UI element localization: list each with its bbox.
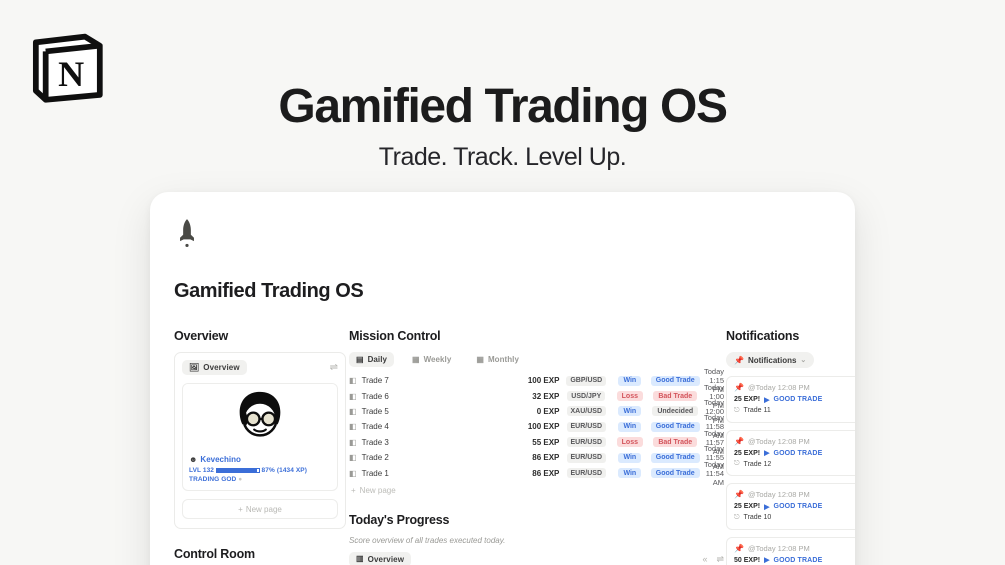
overview-view-pill[interactable]: 🖼 Overview xyxy=(182,360,247,375)
page-root: N Gamified Trading OS Trade. Track. Leve… xyxy=(0,0,1005,565)
avatar xyxy=(183,384,337,450)
tab-daily[interactable]: ▤ Daily xyxy=(349,352,394,367)
trade-exp: 100 EXP xyxy=(502,422,559,431)
page-icon: ◧ xyxy=(349,438,357,447)
chart-icon: ▥ xyxy=(356,555,364,563)
trade-tag: Good Trade xyxy=(651,422,700,432)
notification-status: GOOD TRADE xyxy=(773,503,822,510)
page-icon: ◧ xyxy=(349,422,357,431)
trade-exp: 32 EXP xyxy=(502,392,559,401)
level-row: LVL 132 87% (1434 XP) xyxy=(189,467,331,474)
link-icon: ⎋ xyxy=(734,407,740,415)
pin-icon: 📌 xyxy=(734,383,744,392)
trade-pair: EUR/USD xyxy=(567,468,607,478)
profile-name: Kevechino xyxy=(200,455,240,464)
plus-icon: + xyxy=(351,486,356,495)
profile-card[interactable]: ☻ Kevechino LVL 132 87% (1434 XP) xyxy=(182,383,338,491)
mission-control-column: Mission Control ▤ Daily ▦ Weekly ▦ Mont xyxy=(349,329,724,565)
overview-column: Overview 🖼 Overview ⇌ xyxy=(174,329,346,565)
sliders-icon[interactable]: ⇌ xyxy=(330,363,338,373)
link-icon: ⎋ xyxy=(734,460,740,468)
trade-tag: Good Trade xyxy=(651,376,700,386)
trade-exp: 0 EXP xyxy=(502,407,559,416)
hero: Gamified Trading OS Trade. Track. Level … xyxy=(0,80,1005,172)
mission-control-heading: Mission Control xyxy=(349,329,724,343)
chevron-down-icon: ⌄ xyxy=(800,356,806,364)
gallery-icon: 🖼 xyxy=(189,364,199,372)
overview-view-label: Overview xyxy=(203,363,239,372)
notification-exp: 25 EXP! xyxy=(734,396,760,403)
rank-label: TRADING GOD xyxy=(189,476,236,483)
page-icon: ◧ xyxy=(349,469,357,478)
trade-exp: 86 EXP xyxy=(502,469,559,478)
trade-exp: 55 EXP xyxy=(502,438,559,447)
page-title: Gamified Trading OS xyxy=(0,80,1005,134)
list-item[interactable]: 📌@Today 12:08 PM 25 EXP!▶GOOD TRADE ⎋Tra… xyxy=(726,483,855,530)
trade-pair: GBP/USD xyxy=(566,376,606,386)
notion-window: Gamified Trading OS Overview 🖼 Overview … xyxy=(150,192,855,565)
notion-page-title: Gamified Trading OS xyxy=(174,280,831,303)
list-item[interactable]: 📌@Today 12:08 PM 50 EXP!▶GOOD TRADE ⎋Tra… xyxy=(726,537,855,565)
todays-progress-section: Today's Progress Score overview of all t… xyxy=(349,513,724,565)
todays-progress-heading: Today's Progress xyxy=(349,513,724,527)
trade-name: Trade 2 xyxy=(362,453,389,462)
rocket-icon xyxy=(174,218,831,248)
trade-name: Trade 1 xyxy=(362,469,389,478)
page-subtitle: Trade. Track. Level Up. xyxy=(0,143,1005,172)
table-row[interactable]: ◧Trade 2 86 EXP EUR/USD Win Good Trade T… xyxy=(349,450,724,465)
trade-tag: Bad Trade xyxy=(653,437,697,447)
page-icon: ◧ xyxy=(349,453,357,462)
notification-trade: Trade 10 xyxy=(744,514,772,521)
trade-name: Trade 3 xyxy=(362,438,389,447)
pin-icon: 📌 xyxy=(734,544,744,553)
notification-time: @Today 12:08 PM xyxy=(748,490,810,499)
trade-pair: USD/JPY xyxy=(567,391,605,401)
notification-trade: Trade 11 xyxy=(744,407,771,414)
notification-trade: Trade 12 xyxy=(744,461,772,468)
notifications-heading: Notifications xyxy=(726,329,855,343)
table-new-page-button[interactable]: + New page xyxy=(349,486,724,495)
notification-status: GOOD TRADE xyxy=(773,557,822,564)
control-room-heading: Control Room xyxy=(174,547,346,561)
pin-icon: 📌 xyxy=(734,490,744,499)
pin-icon: 📌 xyxy=(734,356,744,365)
level-label: LVL 132 xyxy=(189,467,214,474)
notification-time: @Today 12:08 PM xyxy=(748,437,810,446)
trade-result: Loss xyxy=(617,437,643,447)
trade-pair: EUR/USD xyxy=(567,422,607,432)
trade-exp: 100 EXP xyxy=(502,376,559,385)
trade-result: Win xyxy=(618,453,641,463)
notification-status: GOOD TRADE xyxy=(773,450,822,457)
tab-monthly[interactable]: ▦ Monthly xyxy=(469,352,526,367)
trade-name: Trade 6 xyxy=(362,392,389,401)
tab-daily-label: Daily xyxy=(368,355,387,364)
trade-exp: 86 EXP xyxy=(502,453,559,462)
notification-exp: 50 EXP! xyxy=(734,557,760,564)
mission-control-tabs: ▤ Daily ▦ Weekly ▦ Monthly xyxy=(349,352,724,367)
page-icon: ◧ xyxy=(349,407,357,416)
trade-time: Today 11:54 AM xyxy=(704,460,724,487)
page-icon: ◧ xyxy=(349,376,357,385)
plus-icon: + xyxy=(238,505,243,514)
rank-dot-icon: ● xyxy=(238,476,242,483)
table-row[interactable]: ◧Trade 6 32 EXP USD/JPY Loss Bad Trade T… xyxy=(349,388,724,403)
tab-weekly-label: Weekly xyxy=(424,355,452,364)
list-item[interactable]: 📌@Today 12:08 PM 25 EXP!▶GOOD TRADE ⎋Tra… xyxy=(726,376,855,423)
overview-heading: Overview xyxy=(174,329,346,343)
table-row[interactable]: ◧Trade 5 0 EXP XAU/USD Win Undecided Tod… xyxy=(349,404,724,419)
play-icon: ▶ xyxy=(764,503,769,511)
notifications-view-label: Notifications xyxy=(748,356,796,365)
page-icon: ◧ xyxy=(349,392,357,401)
overview-new-page-button[interactable]: + New page xyxy=(182,499,338,519)
rank-row: TRADING GOD ● xyxy=(189,476,331,483)
progress-view-pill[interactable]: ▥ Overview xyxy=(349,552,411,565)
play-icon: ▶ xyxy=(764,396,769,404)
table-icon: ▤ xyxy=(356,355,364,364)
calendar-icon: ▦ xyxy=(412,355,420,364)
trade-pair: EUR/USD xyxy=(567,453,607,463)
overview-board: 🖼 Overview ⇌ xyxy=(174,352,346,529)
tab-weekly[interactable]: ▦ Weekly xyxy=(405,352,458,367)
trades-table: ◧Trade 7 100 EXP GBP/USD Win Good Trade … xyxy=(349,373,724,481)
chevrons-left-icon[interactable]: « xyxy=(702,554,707,564)
trade-tag: Good Trade xyxy=(651,468,700,478)
trade-result: Win xyxy=(618,406,641,416)
tab-monthly-label: Monthly xyxy=(488,355,519,364)
progress-percent: 87% xyxy=(262,467,275,474)
person-icon: ☻ xyxy=(189,455,197,464)
list-item[interactable]: 📌@Today 12:08 PM 25 EXP!▶GOOD TRADE ⎋Tra… xyxy=(726,430,855,477)
notifications-column: Notifications 📌 Notifications ⌄ ⇌ 📌@Toda… xyxy=(726,329,855,565)
trade-tag: Bad Trade xyxy=(653,391,697,401)
trade-result: Win xyxy=(618,376,641,386)
trade-tag: Good Trade xyxy=(651,453,700,463)
trade-result: Win xyxy=(618,422,641,432)
xp-label: (1434 XP) xyxy=(277,467,307,474)
profile-name-row: ☻ Kevechino xyxy=(189,455,331,464)
control-room-section: Control Room xyxy=(174,547,346,565)
notification-time: @Today 12:08 PM xyxy=(748,383,810,392)
trade-name: Trade 5 xyxy=(362,407,389,416)
notification-time: @Today 12:08 PM xyxy=(748,544,810,553)
trade-pair: XAU/USD xyxy=(567,406,607,416)
table-row[interactable]: ◧Trade 7 100 EXP GBP/USD Win Good Trade … xyxy=(349,373,724,388)
notification-exp: 25 EXP! xyxy=(734,503,760,510)
trade-pair: EUR/USD xyxy=(567,437,607,447)
progress-view-label: Overview xyxy=(368,555,404,564)
calendar-icon: ▦ xyxy=(476,355,484,364)
sliders-icon[interactable]: ⇌ xyxy=(716,554,724,565)
play-icon: ▶ xyxy=(764,556,769,564)
table-row[interactable]: ◧Trade 4 100 EXP EUR/USD Win Good Trade … xyxy=(349,419,724,434)
notification-status: GOOD TRADE xyxy=(773,396,822,403)
pin-icon: 📌 xyxy=(734,437,744,446)
xp-progress-bar xyxy=(216,468,260,473)
trade-name: Trade 7 xyxy=(362,376,389,385)
notification-exp: 25 EXP! xyxy=(734,450,760,457)
table-new-page-label: New page xyxy=(360,486,396,495)
table-row[interactable]: ◧Trade 3 55 EXP EUR/USD Loss Bad Trade T… xyxy=(349,435,724,450)
trade-result: Loss xyxy=(617,391,643,401)
notifications-view-pill[interactable]: 📌 Notifications ⌄ xyxy=(726,352,814,368)
trade-result: Win xyxy=(618,468,641,478)
trade-tag: Undecided xyxy=(652,406,698,416)
table-row[interactable]: ◧Trade 1 86 EXP EUR/USD Win Good Trade T… xyxy=(349,465,724,480)
link-icon: ⎋ xyxy=(734,514,740,522)
play-icon: ▶ xyxy=(764,449,769,457)
overview-new-page-label: New page xyxy=(246,505,282,514)
trade-name: Trade 4 xyxy=(362,422,389,431)
todays-progress-description: Score overview of all trades executed to… xyxy=(349,536,724,545)
